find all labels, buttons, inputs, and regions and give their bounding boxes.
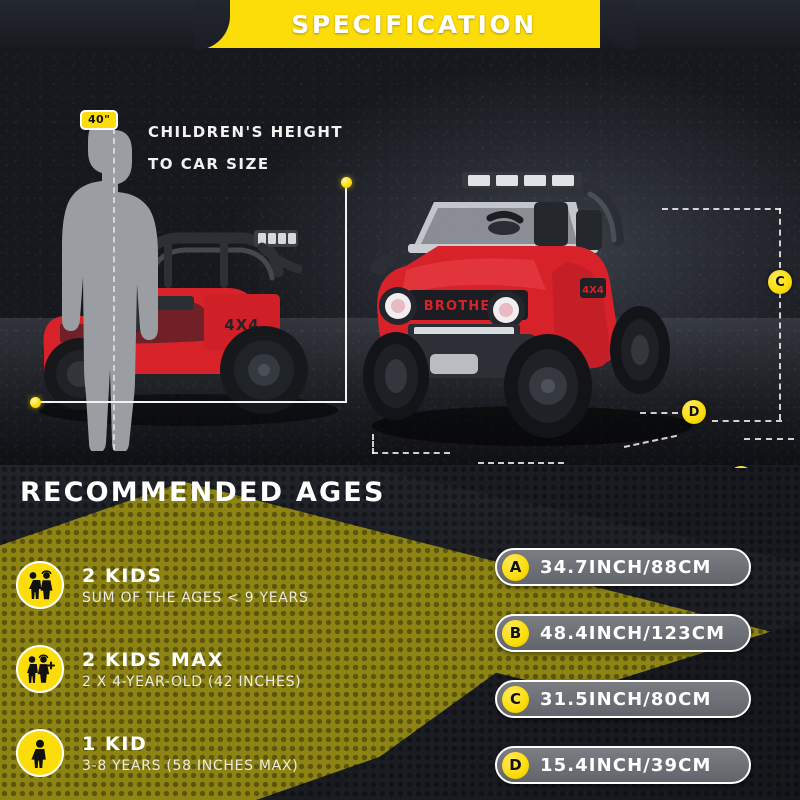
age-text-one-kid: 1 KID 3-8 YEARS (58 INCHES MAX) bbox=[82, 733, 298, 774]
age-text-two-kids-max: 2 KIDS MAX 2 X 4-YEAR-OLD (42 INCHES) bbox=[82, 649, 301, 690]
photo-caption: CHILDREN'S HEIGHT TO CAR SIZE bbox=[148, 116, 343, 180]
page-title: SPECIFICATION bbox=[291, 10, 537, 39]
age-row-two-kids: 2 KIDS SUM OF THE AGES < 9 YEARS bbox=[16, 543, 456, 627]
product-photo-area: 4X4 bbox=[0, 48, 800, 468]
marker-d[interactable]: D bbox=[682, 400, 706, 424]
age-subtitle: SUM OF THE AGES < 9 YEARS bbox=[82, 590, 309, 606]
baseline-guide bbox=[35, 401, 346, 403]
dim-line-c-lower bbox=[779, 292, 781, 420]
dimension-value-b: 48.4INCH/123CM bbox=[540, 623, 725, 644]
dimension-pill-b[interactable]: B 48.4INCH/123CM bbox=[495, 614, 751, 652]
dimension-value-a: 34.7INCH/88CM bbox=[540, 557, 712, 578]
car-guide-dot-icon bbox=[341, 177, 352, 188]
header-banner: SPECIFICATION bbox=[228, 0, 600, 48]
age-row-one-kid: 1 KID 3-8 YEARS (58 INCHES MAX) bbox=[16, 711, 456, 795]
marker-c[interactable]: C bbox=[768, 270, 792, 294]
height-badge: 40" bbox=[80, 110, 118, 130]
dim-line-b-right bbox=[744, 438, 794, 440]
dim-line-d bbox=[640, 412, 678, 414]
dimension-pill-d[interactable]: D 15.4INCH/39CM bbox=[495, 746, 751, 784]
dim-line-c-top bbox=[662, 208, 781, 210]
dimension-letter-a: A bbox=[502, 554, 529, 581]
age-title: 2 KIDS bbox=[82, 565, 309, 587]
baseline-dot-icon bbox=[30, 397, 41, 408]
dimension-letter-d: D bbox=[502, 752, 529, 779]
dimension-value-c: 31.5INCH/80CM bbox=[540, 689, 712, 710]
car-height-guide bbox=[345, 182, 347, 403]
two-kids-icon bbox=[16, 561, 64, 609]
side-badge-4x4-main: 4X4 bbox=[582, 285, 604, 296]
two-kids-max-icon bbox=[16, 645, 64, 693]
dimension-letter-b: B bbox=[502, 620, 529, 647]
dim-line-c-bottom bbox=[712, 420, 782, 422]
dim-line-c-upper bbox=[779, 208, 781, 268]
dimension-letter-c: C bbox=[502, 686, 529, 713]
age-row-two-kids-max: 2 KIDS MAX 2 X 4-YEAR-OLD (42 INCHES) bbox=[16, 627, 456, 711]
age-title: 2 KIDS MAX bbox=[82, 649, 301, 671]
photo-caption-line2: TO CAR SIZE bbox=[148, 148, 343, 180]
age-text-two-kids: 2 KIDS SUM OF THE AGES < 9 YEARS bbox=[82, 565, 309, 606]
dimension-pill-a[interactable]: A 34.7INCH/88CM bbox=[495, 548, 751, 586]
age-subtitle: 3-8 YEARS (58 INCHES MAX) bbox=[82, 758, 298, 774]
header-notch-right bbox=[600, 0, 636, 50]
dimension-pill-c[interactable]: C 31.5INCH/80CM bbox=[495, 680, 751, 718]
specification-infographic: SPECIFICATION bbox=[0, 0, 800, 800]
dim-line-a-left bbox=[372, 452, 450, 454]
age-subtitle: 2 X 4-YEAR-OLD (42 INCHES) bbox=[82, 674, 301, 690]
age-title: 1 KID bbox=[82, 733, 298, 755]
dimension-list: A 34.7INCH/88CM B 48.4INCH/123CM C 31.5I… bbox=[495, 548, 751, 800]
one-kid-icon bbox=[16, 729, 64, 777]
photo-caption-line1: CHILDREN'S HEIGHT bbox=[148, 116, 343, 148]
section-title: RECOMMENDED AGES bbox=[20, 477, 386, 508]
dim-line-a-right bbox=[478, 462, 564, 464]
age-recommendation-list: 2 KIDS SUM OF THE AGES < 9 YEARS bbox=[16, 543, 456, 795]
dim-tick-a-start bbox=[372, 434, 374, 454]
dimension-value-d: 15.4INCH/39CM bbox=[540, 755, 712, 776]
